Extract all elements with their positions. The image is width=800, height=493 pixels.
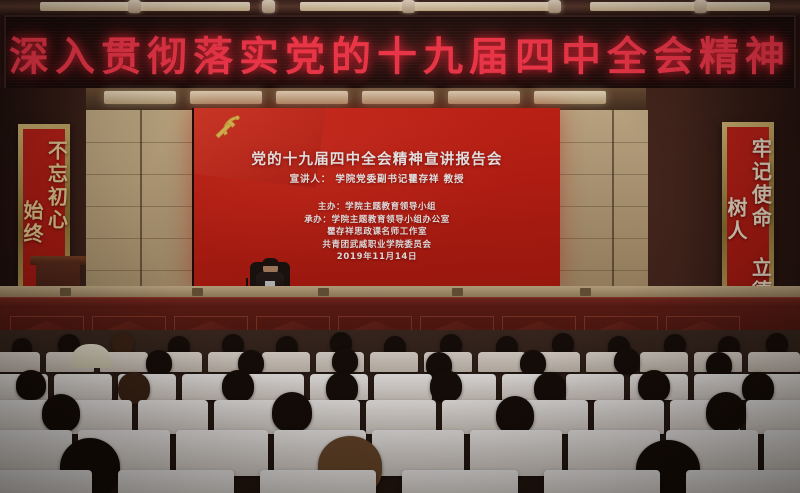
party-hammer-sickle-emblem-icon bbox=[211, 113, 245, 143]
organizer-line: 瞿存祥思政课名师工作室 bbox=[194, 226, 560, 239]
stage-desk-top bbox=[0, 297, 800, 308]
led-banner: 深入贯彻落实党的十九届四中全会精神 bbox=[4, 15, 796, 91]
organizer-line: 承办：学院主题教育领导小组办公室 bbox=[194, 214, 560, 227]
speaker-hair bbox=[262, 258, 279, 266]
panel-divider bbox=[612, 110, 614, 306]
recessed-light bbox=[190, 91, 262, 104]
ceiling-light-strip bbox=[40, 2, 250, 11]
ceiling-light-strip bbox=[590, 2, 770, 11]
led-banner-text: 深入贯彻落实党的十九届四中全会精神 bbox=[6, 17, 794, 89]
ceiling bbox=[0, 0, 800, 16]
auditorium-photo: 深入贯彻落实党的十九届四中全会精神 bbox=[0, 0, 800, 493]
white-cap-icon bbox=[70, 344, 112, 368]
ceiling-spotlight-icon bbox=[262, 0, 275, 13]
screen-date: 2019年11月14日 bbox=[194, 250, 560, 262]
ceiling-spotlight-icon bbox=[402, 0, 415, 13]
recessed-light bbox=[362, 91, 434, 104]
recessed-light bbox=[534, 91, 606, 104]
organizer-line: 主办：学院主题教育领导小组 bbox=[194, 201, 560, 214]
ceiling-spotlight-icon bbox=[548, 0, 561, 13]
audience-area bbox=[0, 330, 800, 493]
ceiling-spotlight-icon bbox=[128, 0, 141, 13]
projection-screen: 党的十九届四中全会精神宣讲报告会 宣讲人： 学院党委副书记瞿存祥 教授 主办：学… bbox=[192, 108, 560, 286]
recessed-light bbox=[104, 91, 176, 104]
screen-speaker-line: 宣讲人： 学院党委副书记瞿存祥 教授 bbox=[194, 171, 560, 185]
recessed-light bbox=[276, 91, 348, 104]
beige-wall-panel-right bbox=[560, 110, 648, 306]
screen-organizer-block: 主办：学院主题教育领导小组 承办：学院主题教育领导小组办公室 瞿存祥思政课名师工… bbox=[194, 201, 560, 251]
ceiling-spotlight-icon bbox=[694, 0, 707, 13]
panel-divider bbox=[140, 110, 142, 306]
screen-title: 党的十九届四中全会精神宣讲报告会 bbox=[194, 148, 560, 169]
ceiling-light-strip bbox=[300, 2, 550, 11]
recessed-light bbox=[448, 91, 520, 104]
